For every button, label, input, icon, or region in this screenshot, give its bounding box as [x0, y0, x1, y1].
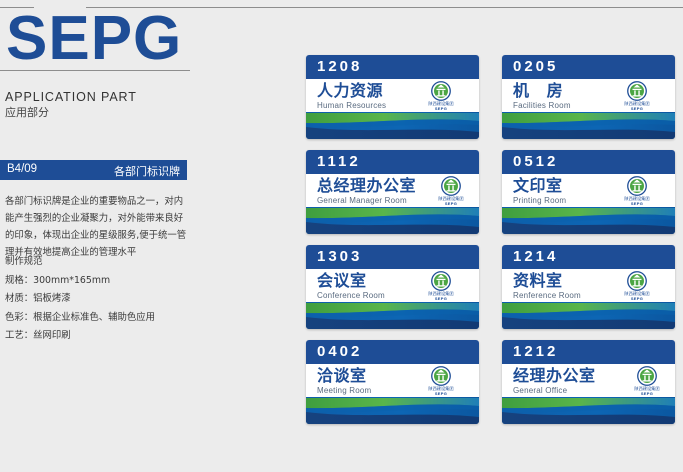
sign-wave-graphic — [502, 302, 675, 329]
circular-emblem-icon — [431, 81, 451, 101]
sign-row: 0402 洽谈室 Meeting Room 陕西建设集团 SEPG — [306, 340, 676, 424]
sign-name-en: Meeting Room — [317, 386, 371, 395]
company-logo: 陕西建设集团 SEPG — [620, 271, 654, 303]
spec-item-color: 色彩：根据企业标准色、辅助色应用 — [5, 309, 195, 328]
sign-room-number: 1214 — [513, 249, 558, 265]
sign-wave-graphic — [502, 397, 675, 424]
sign-plate: 0205 机 房 Facilities Room 陕西建设集团 SEPG — [502, 55, 675, 139]
sign-row: 1208 人力资源 Human Resources 陕西建设集团 SEPG — [306, 55, 676, 139]
sign-name-cn: 洽谈室 — [317, 367, 367, 385]
spec-list: 制作规范 规格：300mm*165mm 材质：铝板烤漆 色彩：根据企业标准色、辅… — [5, 253, 195, 346]
sign-name-cn: 总经理办公室 — [317, 177, 416, 195]
brand-wordmark: SEPG — [6, 8, 182, 70]
circular-emblem-icon — [637, 366, 657, 386]
sign-wave-graphic — [306, 302, 479, 329]
sign-room-number: 1212 — [513, 344, 558, 360]
section-title-cn: 应用部分 — [5, 104, 49, 120]
section-title-en: APPLICATION PART — [5, 90, 137, 104]
sign-room-number: 1303 — [317, 249, 362, 265]
sign-name-en: Conference Room — [317, 291, 385, 300]
sign-plate: 0402 洽谈室 Meeting Room 陕西建设集团 SEPG — [306, 340, 479, 424]
circular-emblem-icon — [627, 176, 647, 196]
sign-plate: 1208 人力资源 Human Resources 陕西建设集团 SEPG — [306, 55, 479, 139]
sign-row: 1303 会议室 Conference Room 陕西建设集团 SEPG — [306, 245, 676, 329]
spec-heading: 制作规范 — [5, 253, 195, 272]
spec-code-id: B4/09 — [7, 163, 37, 175]
sign-name-cn: 资料室 — [513, 272, 563, 290]
sign-plate-grid: 1208 人力资源 Human Resources 陕西建设集团 SEPG — [306, 55, 676, 435]
company-logo: 陕西建设集团 SEPG — [620, 81, 654, 113]
sign-wave-graphic — [306, 112, 479, 139]
sign-name-cn: 会议室 — [317, 272, 367, 290]
sign-name-en: General Manager Room — [317, 196, 407, 205]
sign-wave-graphic — [502, 112, 675, 139]
sign-plate: 1112 总经理办公室 General Manager Room 陕西建设集团 … — [306, 150, 479, 234]
spec-item-material: 材质：铝板烤漆 — [5, 290, 195, 309]
info-sidebar: SEPG APPLICATION PART 应用部分 B4/09 各部门标识牌 … — [0, 0, 200, 472]
sign-room-number: 1112 — [317, 154, 361, 170]
brand-divider — [0, 70, 190, 71]
circular-emblem-icon — [441, 176, 461, 196]
spec-code-bar: B4/09 各部门标识牌 — [0, 160, 187, 180]
sign-name-en: Human Resources — [317, 101, 386, 110]
sign-room-number: 0512 — [513, 154, 558, 170]
sign-name-en: General Office — [513, 386, 567, 395]
sign-row: 1112 总经理办公室 General Manager Room 陕西建设集团 … — [306, 150, 676, 234]
sign-plate: 1212 经理办公室 General Office 陕西建设集团 SEPG — [502, 340, 675, 424]
spec-item-size: 规格：300mm*165mm — [5, 272, 195, 291]
sign-name-cn: 经理办公室 — [513, 367, 596, 385]
sign-plate: 0512 文印室 Printing Room 陕西建设集团 SEPG — [502, 150, 675, 234]
sign-name-cn: 文印室 — [513, 177, 563, 195]
company-logo: 陕西建设集团 SEPG — [424, 366, 458, 398]
sign-wave-graphic — [306, 397, 479, 424]
description-paragraph: 各部门标识牌是企业的重要物品之一，对内能产生强烈的企业凝聚力，对外能带来良好的印… — [5, 193, 190, 261]
circular-emblem-icon — [431, 271, 451, 291]
sign-plate: 1303 会议室 Conference Room 陕西建设集团 SEPG — [306, 245, 479, 329]
spec-code-title: 各部门标识牌 — [114, 163, 180, 179]
sign-name-en: Renference Room — [513, 291, 581, 300]
sign-name-en: Printing Room — [513, 196, 566, 205]
circular-emblem-icon — [627, 81, 647, 101]
spec-item-process: 工艺：丝网印刷 — [5, 327, 195, 346]
company-logo: 陕西建设集团 SEPG — [630, 366, 664, 398]
sign-room-number: 0402 — [317, 344, 362, 360]
sign-name-en: Facilities Room — [513, 101, 571, 110]
sign-room-number: 1208 — [317, 59, 362, 75]
sign-wave-graphic — [502, 207, 675, 234]
sign-plate: 1214 资料室 Renference Room 陕西建设集团 SEPG — [502, 245, 675, 329]
sign-name-cn: 机 房 — [513, 82, 569, 100]
circular-emblem-icon — [431, 366, 451, 386]
company-logo: 陕西建设集团 SEPG — [424, 271, 458, 303]
sign-wave-graphic — [306, 207, 479, 234]
circular-emblem-icon — [627, 271, 647, 291]
sign-name-cn: 人力资源 — [317, 82, 383, 100]
company-logo: 陕西建设集团 SEPG — [434, 176, 468, 208]
sign-room-number: 0205 — [513, 59, 558, 75]
company-logo: 陕西建设集团 SEPG — [620, 176, 654, 208]
company-logo: 陕西建设集团 SEPG — [424, 81, 458, 113]
